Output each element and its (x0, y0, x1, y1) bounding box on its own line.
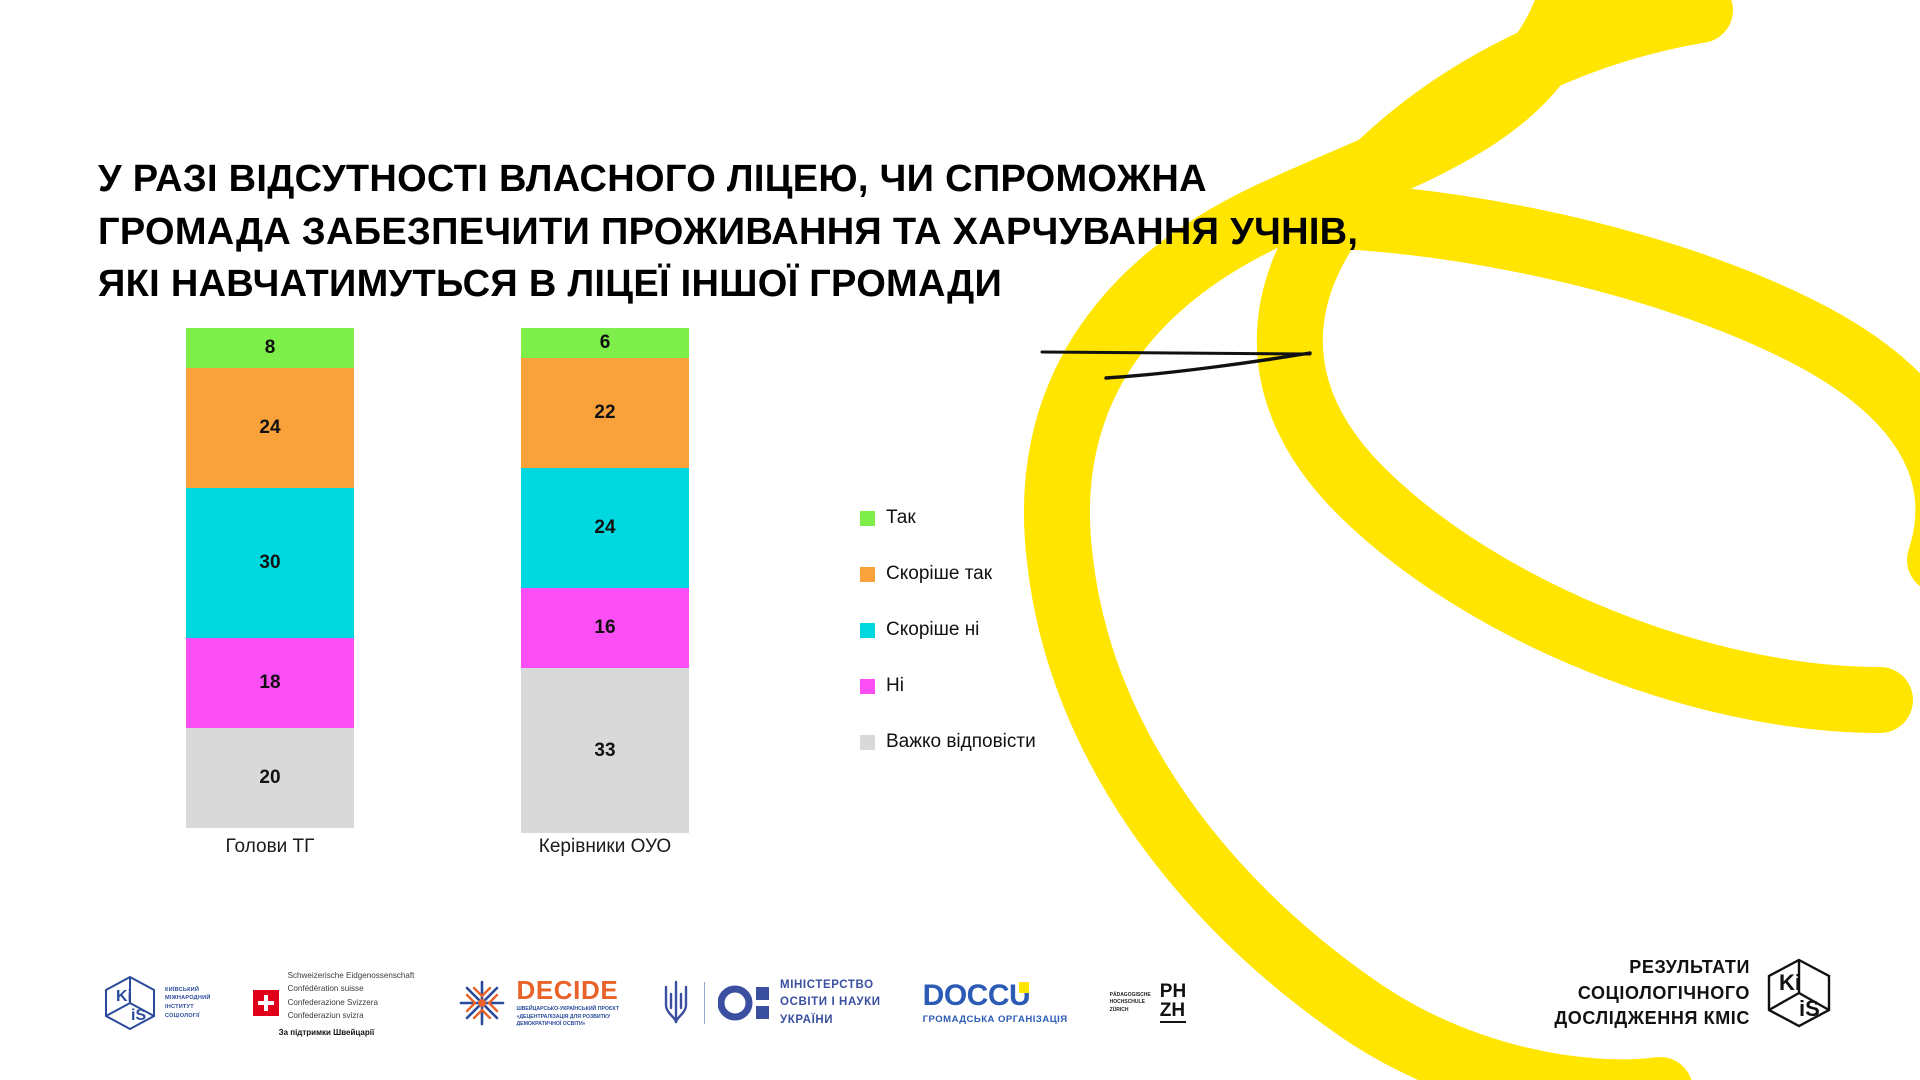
chart-legend: Так Скоріше так Скоріше ні Ні Важко відп… (860, 490, 1036, 770)
swiss-line: Confederaziun svizra (288, 1009, 415, 1022)
bar-column: 6 22 24 16 33 (521, 328, 689, 828)
bar-segment-tak: 8 (186, 328, 354, 368)
mon-line: МІНІСТЕРСТВО (780, 977, 881, 994)
logo-swiss-confederation: Schweizerische Eidgenossenschaft Confédé… (253, 969, 415, 1037)
credit-line: РЕЗУЛЬТАТИ (1554, 955, 1750, 981)
page-title-line-1: У РАЗІ ВІДСУТНОСТІ ВЛАСНОГО ЛІЦЕЮ, ЧИ СП… (98, 153, 1518, 205)
legend-swatch-icon (860, 623, 875, 638)
logo-kiis: Ki iS КИЇВСЬКИЙ МІЖНАРОДНИЙ ІНСТИТУТ СОЦ… (104, 969, 211, 1037)
kiis-cube-icon: Ki iS (104, 975, 156, 1031)
svg-text:Ki: Ki (116, 988, 132, 1005)
doccu-wordmark: DOCCU (923, 979, 1031, 1012)
swiss-support-text: За підтримки Швейцарії (279, 1028, 415, 1037)
legend-item-skorishe-ni: Скоріше ні (860, 602, 1036, 658)
legend-item-tak: Так (860, 490, 1036, 546)
legend-item-ni: Ні (860, 658, 1036, 714)
mon-logo-text: МІНІСТЕРСТВО ОСВІТИ І НАУКИ УКРАЇНИ (780, 977, 881, 1029)
bar-column: 8 24 30 18 20 (186, 328, 354, 828)
bar-segment-vazhko: 20 (186, 728, 354, 828)
svg-text:Ki: Ki (1779, 970, 1801, 995)
footer-logo-strip: Ki iS КИЇВСЬКИЙ МІЖНАРОДНИЙ ІНСТИТУТ СОЦ… (104, 965, 1186, 1041)
page-title-line-2: ГРОМАДА ЗАБЕЗПЕЧИТИ ПРОЖИВАННЯ ТА ХАРЧУВ… (98, 206, 1518, 258)
svg-text:iS: iS (131, 1007, 146, 1024)
logo-divider (704, 982, 705, 1024)
legend-label: Ні (886, 675, 904, 697)
bar-segment-tak: 6 (521, 328, 689, 358)
decide-logo-text: DECIDE ШВЕЙЦАРСЬКО-УКРАЇНСЬКИЙ ПРОЄКТ «Д… (516, 977, 619, 1029)
ukraine-trident-icon (661, 978, 691, 1028)
phzh-sub-line: PÄDAGOGISCHE (1110, 992, 1151, 1000)
legend-label: Скоріше ні (886, 619, 979, 641)
page-title-line-3: ЯКІ НАВЧАТИМУТЬСЯ В ЛІЦЕЇ ІНШОЇ ГРОМАДИ (98, 258, 1518, 310)
page-title: У РАЗІ ВІДСУТНОСТІ ВЛАСНОГО ЛІЦЕЮ, ЧИ СП… (98, 153, 1518, 310)
bar-segment-skorishe-ni: 30 (186, 488, 354, 638)
legend-item-skorishe-tak: Скоріше так (860, 546, 1036, 602)
swiss-logo-text: Schweizerische Eidgenossenschaft Confédé… (279, 969, 415, 1036)
bar-segment-ni: 16 (521, 588, 689, 668)
legend-swatch-icon (860, 735, 875, 750)
logo-doccu: DOCCU ГРОМАДСЬКА ОРГАНІЗАЦІЯ (923, 969, 1068, 1037)
logo-ministry-of-education: МІНІСТЕРСТВО ОСВІТИ І НАУКИ УКРАЇНИ (661, 969, 881, 1037)
kiis-logo-words: КИЇВСЬКИЙ МІЖНАРОДНИЙ ІНСТИТУТ СОЦІОЛОГІ… (165, 986, 211, 1021)
decide-snowflake-icon (456, 977, 508, 1029)
credit-line: СОЦІОЛОГІЧНОГО (1554, 981, 1750, 1007)
swiss-line: Confederazione Svizzera (288, 996, 415, 1009)
bar-category-label: Керівники ОУО (521, 836, 689, 858)
phzh-subtitle: PÄDAGOGISCHE HOCHSCHULE ZÜRICH (1110, 992, 1151, 1015)
legend-swatch-icon (860, 567, 875, 582)
phzh-wordmark: PH ZH (1160, 983, 1186, 1022)
doccu-logo-text: DOCCU ГРОМАДСЬКА ОРГАНІЗАЦІЯ (923, 981, 1068, 1025)
bar-segment-ni: 18 (186, 638, 354, 728)
swiss-line: Confédération suisse (288, 982, 415, 995)
kiis-word: ІНСТИТУТ (165, 1003, 211, 1012)
mon-emblem-icon (718, 981, 770, 1025)
phzh-sub-line: ZÜRICH (1110, 1007, 1151, 1015)
bar-group-kerivnyky-ouo: 6 22 24 16 33 Керівники ОУО (521, 328, 689, 828)
legend-label: Скоріше так (886, 563, 992, 585)
swiss-flag-icon (253, 990, 279, 1016)
bar-segment-skorishe-tak: 24 (186, 368, 354, 488)
kiis-word: СОЦІОЛОГІЇ (165, 1012, 211, 1021)
svg-text:iS: iS (1799, 996, 1820, 1021)
decide-wordmark: DECIDE (516, 977, 619, 1003)
credit-line: ДОСЛІДЖЕННЯ КМІС (1554, 1006, 1750, 1032)
kiis-credit-block: РЕЗУЛЬТАТИ СОЦІОЛОГІЧНОГО ДОСЛІДЖЕННЯ КМ… (1554, 955, 1832, 1032)
mon-line: ОСВІТИ І НАУКИ (780, 994, 881, 1011)
bar-category-label: Голови ТГ (186, 836, 354, 858)
bar-segment-skorishe-ni: 24 (521, 468, 689, 588)
kiis-word: КИЇВСЬКИЙ (165, 986, 211, 995)
phzh-sub-line: HOCHSCHULE (1110, 999, 1151, 1007)
bar-group-holovy-tg: 8 24 30 18 20 Голови ТГ (186, 328, 354, 828)
bar-segment-skorishe-tak: 22 (521, 358, 689, 468)
legend-swatch-icon (860, 511, 875, 526)
logo-decide: DECIDE ШВЕЙЦАРСЬКО-УКРАЇНСЬКИЙ ПРОЄКТ «Д… (456, 969, 619, 1037)
phzh-mark-top: PH (1160, 983, 1186, 1001)
swiss-line: Schweizerische Eidgenossenschaft (288, 969, 415, 982)
legend-label: Так (886, 507, 916, 529)
decide-sub-line: ДЕМОКРАТИЧНОЇ ОСВІТИ» (516, 1021, 619, 1029)
legend-swatch-icon (860, 679, 875, 694)
bar-segment-vazhko: 33 (521, 668, 689, 833)
mon-line: УКРАЇНИ (780, 1012, 881, 1029)
kiis-word: МІЖНАРОДНИЙ (165, 994, 211, 1003)
kiis-cube-icon: Ki iS (1766, 957, 1832, 1029)
legend-label: Важко відповісти (886, 731, 1036, 753)
doccu-yellow-accent-icon (1019, 982, 1029, 993)
logo-phzh: PÄDAGOGISCHE HOCHSCHULE ZÜRICH PH ZH (1110, 969, 1187, 1037)
kiis-credit-text: РЕЗУЛЬТАТИ СОЦІОЛОГІЧНОГО ДОСЛІДЖЕННЯ КМ… (1554, 955, 1750, 1032)
decide-sub-line: ШВЕЙЦАРСЬКО-УКРАЇНСЬКИЙ ПРОЄКТ (516, 1006, 619, 1014)
phzh-mark-bottom: ZH (1160, 1002, 1186, 1020)
legend-item-vazhko-vidpovisty: Важко відповісти (860, 714, 1036, 770)
doccu-subtitle: ГРОМАДСЬКА ОРГАНІЗАЦІЯ (923, 1014, 1068, 1025)
